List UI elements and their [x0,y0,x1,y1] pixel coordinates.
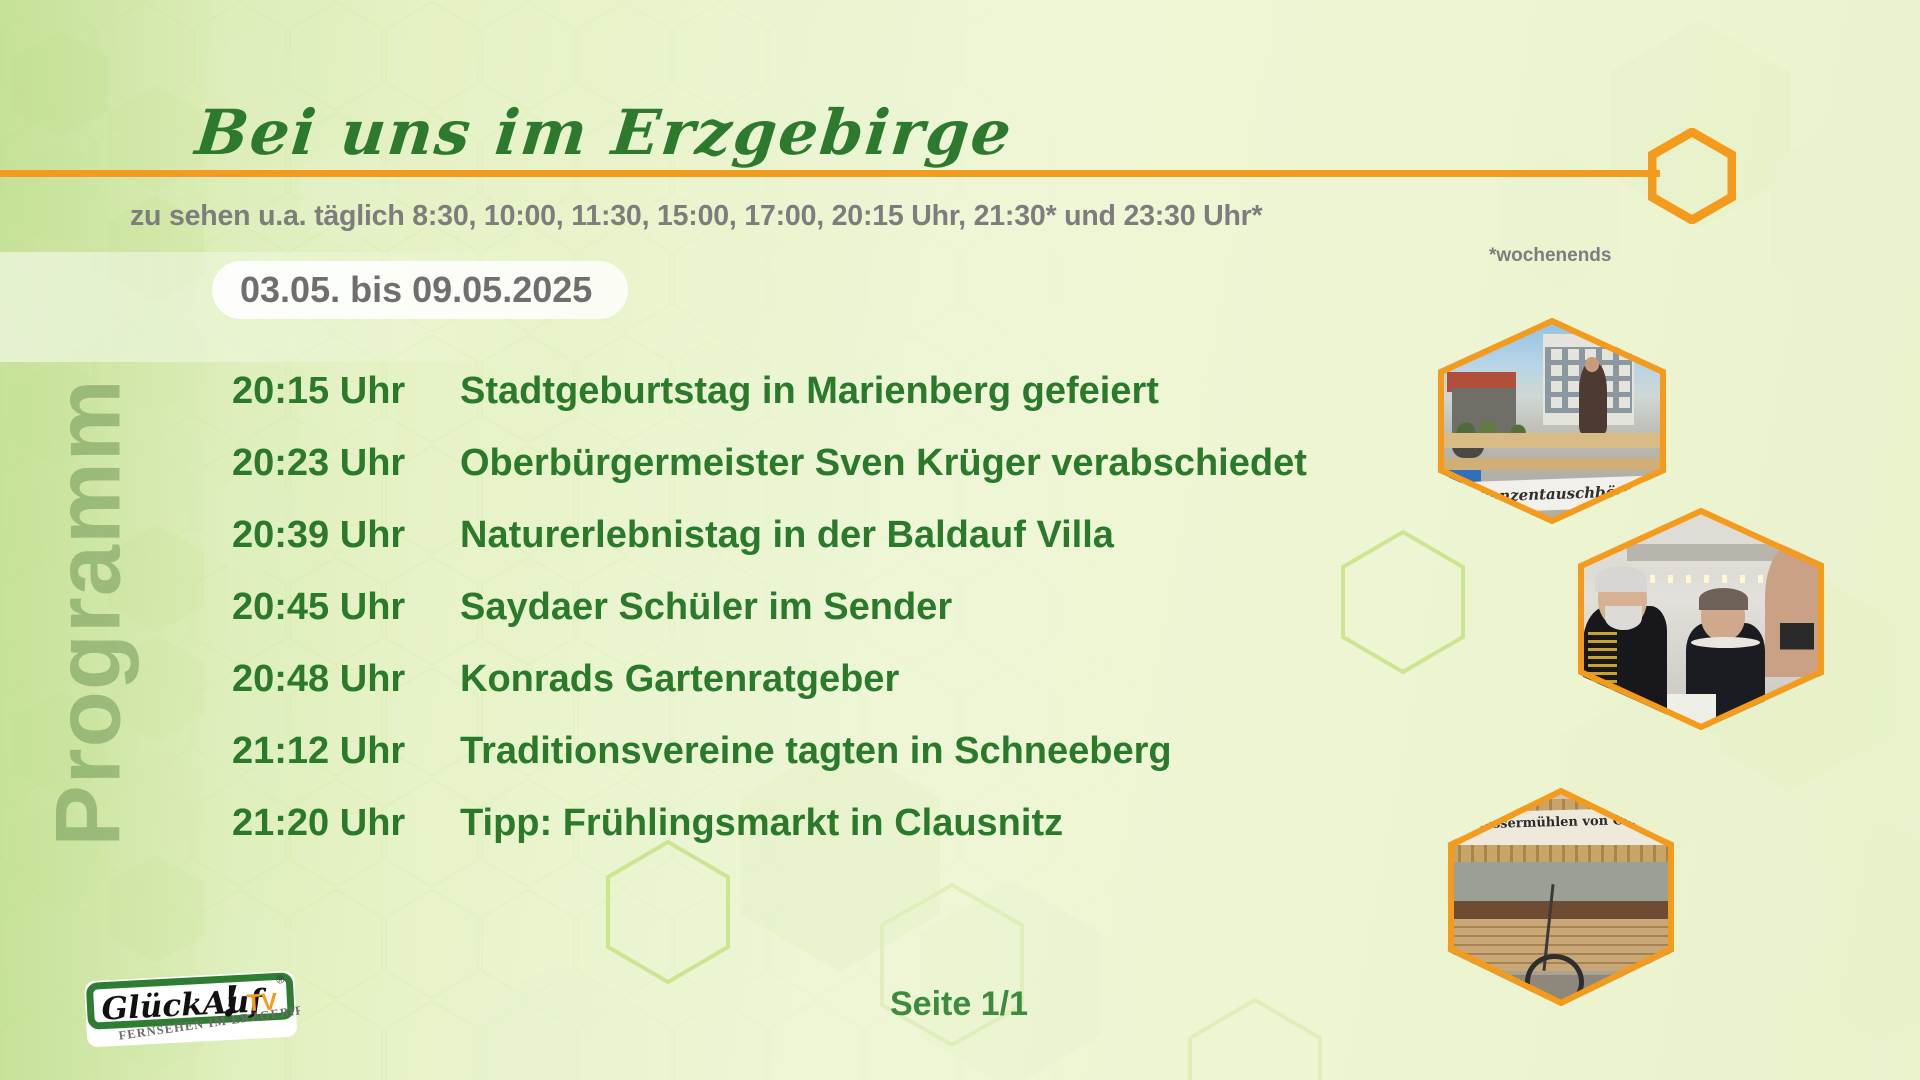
program-time: 20:45 Uhr [232,586,460,629]
program-row[interactable]: 20:15 Uhr Stadtgeburtstag in Marienberg … [232,370,1352,442]
program-row[interactable]: 21:20 Uhr Tipp: Frühlingsmarkt in Clausn… [232,802,1352,874]
header: Bei uns im Erzgebirge zu sehen u.a. tägl… [0,0,1920,300]
program-title: Traditionsvereine tagten in Schneeberg [460,730,1172,773]
program-title: Naturerlebnistag in der Baldauf Villa [460,514,1114,557]
program-row[interactable]: 20:23 Uhr Oberbürgermeister Sven Krüger … [232,442,1352,514]
program-title: Tipp: Frühlingsmarkt in Clausnitz [460,802,1063,845]
program-time: 20:23 Uhr [232,442,460,485]
hexagon-frame-icon [1438,318,1666,524]
program-title: Oberbürgermeister Sven Krüger verabschie… [460,442,1307,485]
weekend-note: *wochenends [1489,245,1611,267]
title-rule [0,170,1660,177]
program-title: Saydaer Schüler im Sender [460,586,952,629]
program-time: 20:39 Uhr [232,514,460,557]
program-title: Stadtgeburtstag in Marienberg gefeiert [460,370,1159,413]
title-hexagon-marker-icon [1648,128,1736,224]
program-time: 20:48 Uhr [232,658,460,701]
photo-hexagon-wassermuehlen: Die Wassermühlen von Clausnitz [1448,788,1674,1006]
photo-hexagon-traditionsvereine [1578,508,1824,730]
program-time: 21:20 Uhr [232,802,460,845]
program-time: 20:15 Uhr [232,370,460,413]
photo-hexagon-pflanzentauschboerse: Pflanzentauschbörse [1438,318,1666,524]
program-title: Konrads Gartenratgeber [460,658,899,701]
date-range-badge: 03.05. bis 09.05.2025 [212,261,628,319]
program-row[interactable]: 20:48 Uhr Konrads Gartenratgeber [232,658,1352,730]
program-row[interactable]: 20:45 Uhr Saydaer Schüler im Sender [232,586,1352,658]
program-list: 20:15 Uhr Stadtgeburtstag in Marienberg … [232,370,1352,874]
glueckauf-tv-logo: GlückAuf ! TV ® FERNSEHEN IM ERZGEBIRGE [82,968,300,1060]
program-row[interactable]: 20:39 Uhr Naturerlebnistag in der Baldau… [232,514,1352,586]
program-time: 21:12 Uhr [232,730,460,773]
section-label-programm: Programm [37,378,142,846]
date-range-label: 03.05. bis 09.05.2025 [240,269,592,311]
program-row[interactable]: 21:12 Uhr Traditionsvereine tagten in Sc… [232,730,1352,802]
logo-registered: ® [276,974,285,986]
page-title: Bei uns im Erzgebirge [192,96,1016,169]
broadcast-times: zu sehen u.a. täglich 8:30, 10:00, 11:30… [130,200,1262,233]
hexagon-frame-icon [1448,788,1674,1006]
hexagon-frame-icon [1578,508,1824,730]
page-indicator: Seite 1/1 [890,985,1028,1024]
